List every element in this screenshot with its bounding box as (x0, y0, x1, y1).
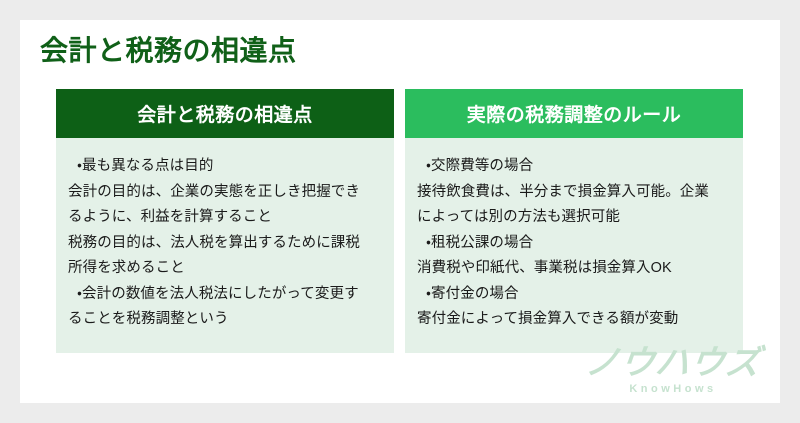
knowhows-logo: ノウハウズ KnowHows (584, 346, 762, 395)
body-line: ることを税務調整という (68, 307, 382, 333)
body-line: ・会計の数値を法人税法にしたがって変更す (68, 282, 382, 308)
body-line: ・交際費等の場合 (417, 154, 731, 180)
body-line: 所得を求めること (68, 256, 382, 282)
panel-header-accounting-vs-tax: 会計と税務の相違点 (56, 89, 394, 138)
body-line: 会計の目的は、企業の実態を正しき把握でき (68, 180, 382, 206)
body-line: 接待飲食費は、半分まで損金算入可能。企業 (417, 180, 731, 206)
page-title: 会計と税務の相違点 (40, 34, 297, 68)
body-line: ・最も異なる点は目的 (68, 154, 382, 180)
body-line: 寄付金によって損金算入できる額が変動 (417, 307, 731, 333)
panel-body-accounting-vs-tax: ・最も異なる点は目的 会計の目的は、企業の実態を正しき把握でき るように、利益を… (56, 138, 394, 353)
logo-subtitle: KnowHows (584, 384, 762, 395)
panel-accounting-vs-tax: 会計と税務の相違点 ・最も異なる点は目的 会計の目的は、企業の実態を正しき把握で… (56, 89, 394, 353)
panel-group: 会計と税務の相違点 ・最も異なる点は目的 会計の目的は、企業の実態を正しき把握で… (56, 89, 744, 353)
panel-header-tax-adjustment-rules: 実際の税務調整のルール (405, 89, 743, 138)
panel-body-tax-adjustment-rules: ・交際費等の場合 接待飲食費は、半分まで損金算入可能。企業 によっては別の方法も… (405, 138, 743, 353)
body-line: ・寄付金の場合 (417, 282, 731, 308)
body-line: 税務の目的は、法人税を算出するために課税 (68, 231, 382, 257)
panel-tax-adjustment-rules: 実際の税務調整のルール ・交際費等の場合 接待飲食費は、半分まで損金算入可能。企… (405, 89, 743, 353)
body-line: 消費税や印紙代、事業税は損金算入OK (417, 256, 731, 282)
body-line: ・租税公課の場合 (417, 231, 731, 257)
body-line: るように、利益を計算すること (68, 205, 382, 231)
logo-wordmark: ノウハウズ (582, 346, 764, 380)
slide-card: 会計と税務の相違点 会計と税務の相違点 ・最も異なる点は目的 会計の目的は、企業… (20, 20, 780, 403)
body-line: によっては別の方法も選択可能 (417, 205, 731, 231)
